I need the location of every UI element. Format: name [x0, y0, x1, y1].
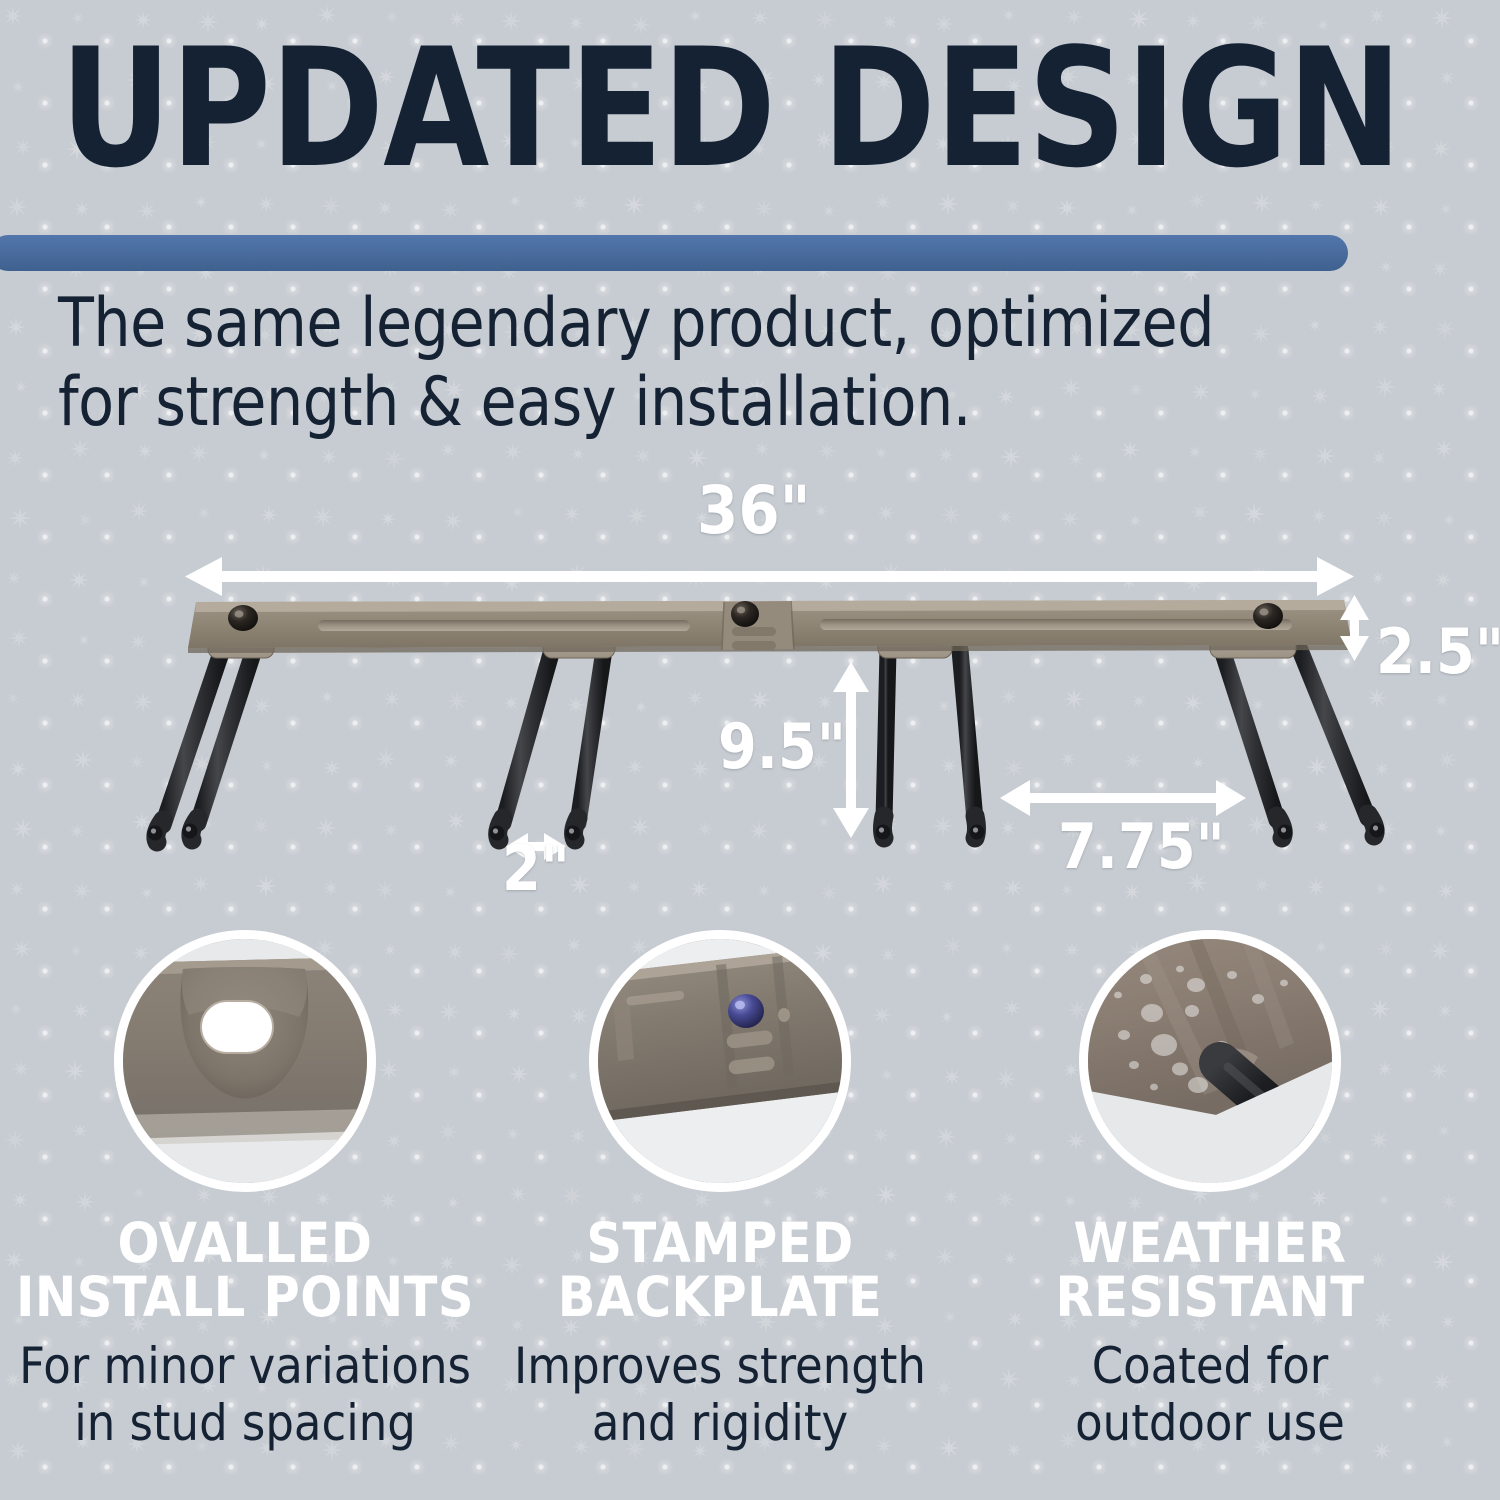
accent-rule	[0, 235, 1348, 271]
feature-heading: STAMPED BACKPLATE	[485, 1216, 955, 1324]
arm-pair-3	[876, 650, 985, 840]
dimension-label-pair-spacing: 7.75"	[1058, 816, 1225, 878]
dimension-label-arm-gap: 2"	[502, 838, 570, 900]
feature-description: Coated for outdoor use	[975, 1338, 1445, 1452]
feature-desc-line-2: and rigidity	[592, 1394, 848, 1452]
feature-description: Improves strength and rigidity	[485, 1338, 955, 1452]
feature-weather-resistant: WEATHER RESISTANT Coated for outdoor use	[975, 930, 1445, 1452]
feature-description: For minor variations in stud spacing	[10, 1338, 480, 1452]
feature-desc-line-1: Improves strength	[514, 1337, 926, 1395]
dimension-label-plate-height: 2.5"	[1376, 621, 1500, 683]
mount-bolt-left	[228, 605, 258, 631]
feature-heading: OVALLED INSTALL POINTS	[10, 1216, 480, 1324]
feature-heading: WEATHER RESISTANT	[975, 1216, 1445, 1324]
page-subtitle: The same legendary product, optimized fo…	[58, 284, 1364, 442]
feature-desc-line-1: For minor variations	[19, 1337, 471, 1395]
feature-callouts: OVALLED INSTALL POINTS For minor variati…	[0, 930, 1500, 1490]
feature-desc-line-1: Coated for	[1092, 1337, 1328, 1395]
arrow-width-36	[185, 557, 1354, 596]
feature-heading-line-2: BACKPLATE	[558, 1265, 883, 1329]
ovalled-hole-icon	[114, 930, 376, 1192]
stamped-backplate-icon	[589, 930, 851, 1192]
dimension-label-arm-length: 9.5"	[718, 716, 846, 778]
arm-pair-4	[1222, 650, 1385, 840]
feature-desc-line-2: in stud spacing	[74, 1394, 416, 1452]
arm-pair-1	[148, 650, 255, 842]
subtitle-line-2: for strength & easy installation.	[58, 363, 971, 442]
arm-pair-2	[490, 650, 605, 841]
feature-desc-line-2: outdoor use	[1075, 1394, 1345, 1452]
dimension-label-width: 36"	[697, 480, 811, 542]
feature-stamped-backplate: STAMPED BACKPLATE Improves strength and …	[485, 930, 955, 1452]
mount-bolt-center	[731, 601, 759, 627]
product-diagram: 36" 2.5" 9.5" 7.75" 2"	[0, 440, 1500, 930]
feature-heading-line-2: INSTALL POINTS	[16, 1265, 474, 1329]
mount-bolt-right	[1253, 603, 1283, 629]
page-title: UPDATED DESIGN	[60, 34, 1401, 184]
feature-heading-line-2: RESISTANT	[1055, 1265, 1364, 1329]
rack-backplate	[188, 600, 1352, 653]
subtitle-line-1: The same legendary product, optimized	[58, 284, 1214, 363]
feature-ovalled-install-points: OVALLED INSTALL POINTS For minor variati…	[10, 930, 480, 1452]
water-droplets-icon	[1079, 930, 1341, 1192]
